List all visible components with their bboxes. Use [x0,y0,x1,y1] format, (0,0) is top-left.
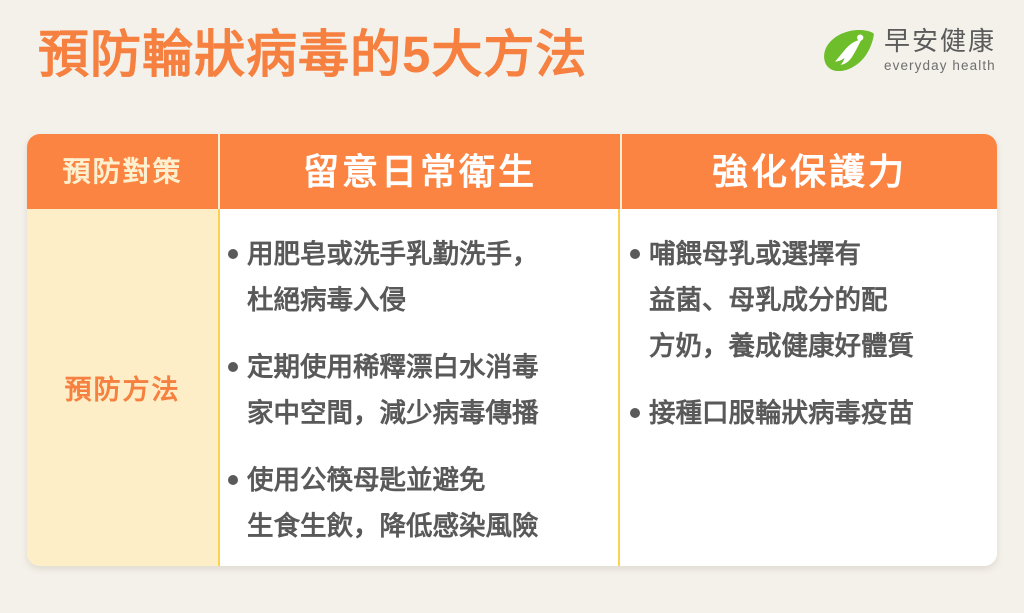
brand-name-en: everyday health [884,59,996,73]
table-header-row: 預防對策 留意日常衛生 強化保護力 [27,134,997,209]
page-title: 預防輪狀病毒的5大方法 [38,23,587,87]
protection-bullet-list: 哺餵母乳或選擇有益菌、母乳成分的配方奶，養成健康好體質接種口服輪狀病毒疫苗 [628,231,987,436]
prevention-table: 預防對策 留意日常衛生 強化保護力 預防方法 用肥皂或洗手乳勤洗手，杜絕病毒入侵… [27,134,997,566]
list-item-line: 用肥皂或洗手乳勤洗手， [247,231,608,277]
column-header-policy: 預防對策 [27,134,218,209]
list-item-line: 益菌、母乳成分的配 [649,277,987,323]
list-item: 哺餵母乳或選擇有益菌、母乳成分的配方奶，養成健康好體質 [628,231,987,369]
list-item-line: 定期使用稀釋漂白水消毒 [247,344,608,390]
bullet-dot-icon [630,249,640,259]
list-item-line: 方奶，養成健康好體質 [649,323,987,369]
bullet-dot-icon [630,408,640,418]
cell-hygiene-measures: 用肥皂或洗手乳勤洗手，杜絕病毒入侵定期使用稀釋漂白水消毒家中空間，減少病毒傳播使… [218,209,618,566]
list-item-line: 杜絕病毒入侵 [247,277,608,323]
list-item-line: 生食生飲，降低感染風險 [247,503,608,549]
list-item-line: 接種口服輪狀病毒疫苗 [649,390,987,436]
list-item-line: 使用公筷母匙並避免 [247,457,608,503]
bullet-dot-icon [228,475,238,485]
list-item: 使用公筷母匙並避免生食生飲，降低感染風險 [226,457,608,549]
table-body-row: 預防方法 用肥皂或洗手乳勤洗手，杜絕病毒入侵定期使用稀釋漂白水消毒家中空間，減少… [27,209,997,566]
brand-logo: 早安健康 everyday health [823,28,996,73]
bullet-dot-icon [228,249,238,259]
column-header-hygiene: 留意日常衛生 [218,134,620,209]
list-item-line: 哺餵母乳或選擇有 [649,231,987,277]
green-leaf-bird-icon [823,29,875,71]
brand-text: 早安健康 everyday health [884,28,996,73]
list-item: 用肥皂或洗手乳勤洗手，杜絕病毒入侵 [226,231,608,323]
list-item: 定期使用稀釋漂白水消毒家中空間，減少病毒傳播 [226,344,608,436]
list-item: 接種口服輪狀病毒疫苗 [628,390,987,436]
column-header-protection: 強化保護力 [620,134,997,209]
brand-name-zh: 早安健康 [884,28,996,54]
list-item-line: 家中空間，減少病毒傳播 [247,390,608,436]
hygiene-bullet-list: 用肥皂或洗手乳勤洗手，杜絕病毒入侵定期使用稀釋漂白水消毒家中空間，減少病毒傳播使… [226,231,608,549]
page-header: 預防輪狀病毒的5大方法 早安健康 everyday health [0,0,1024,123]
bullet-dot-icon [228,362,238,372]
row-label-prevention-method: 預防方法 [27,209,218,566]
cell-protection-measures: 哺餵母乳或選擇有益菌、母乳成分的配方奶，養成健康好體質接種口服輪狀病毒疫苗 [618,209,997,566]
